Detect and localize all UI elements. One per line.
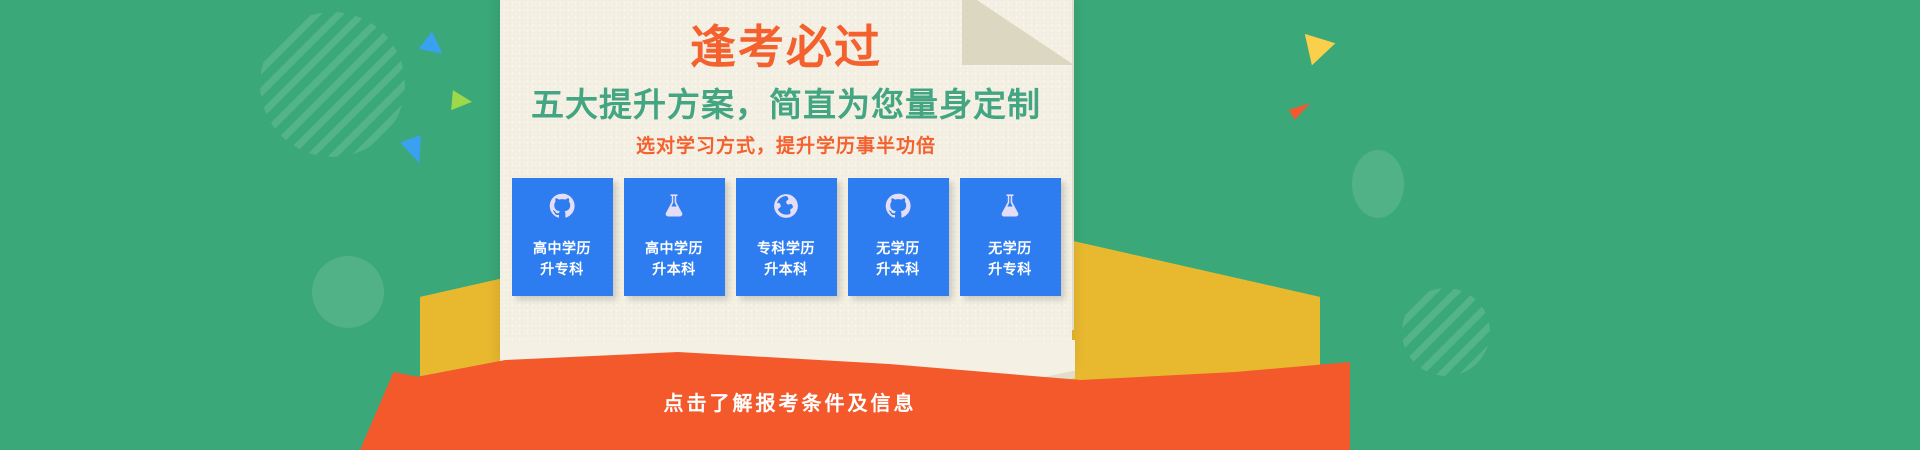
program-card-line2: 升本科 [652,261,696,277]
program-card-label: 无学历 升本科 [876,238,920,281]
program-card-4[interactable]: 无学历 升本科 [848,178,949,296]
program-card-line1: 专科学历 [757,240,815,256]
flask-icon [660,192,688,220]
globe-icon [772,192,800,220]
program-card-line1: 高中学历 [533,240,591,256]
github-cat-icon [884,192,912,220]
dot-circle-icon [312,256,384,328]
program-card-label: 高中学历 升专科 [533,238,591,281]
confetti-triangle-icon [451,90,473,112]
program-card-2[interactable]: 高中学历 升本科 [624,178,725,296]
flask-icon [996,192,1024,220]
confetti-triangle-icon [400,135,430,167]
program-card-line1: 无学历 [876,240,920,256]
program-card-line1: 无学历 [988,240,1032,256]
confetti-triangle-icon [1297,34,1336,70]
program-card-1[interactable]: 高中学历 升专科 [512,178,613,296]
program-card-label: 高中学历 升本科 [645,238,703,281]
banner-content: 逢考必过 五大提升方案，简直为您量身定制 选对学习方式，提升学历事半功倍 高中学… [500,0,1072,296]
striped-circle-icon [260,12,405,157]
program-card-list: 高中学历 升专科 高中学历 升本科 [500,178,1072,296]
banner-subtitle: 五大提升方案，简直为您量身定制 [500,87,1072,123]
page-title: 逢考必过 [500,22,1072,73]
program-card-line2: 升专科 [540,261,584,277]
banner-tagline: 选对学习方式，提升学历事半功倍 [500,137,1072,158]
confetti-triangle-icon [1288,98,1313,120]
confetti-triangle-icon [419,32,450,63]
program-card-label: 无学历 升专科 [988,238,1032,281]
dot-circle-icon [1352,150,1404,218]
program-card-line2: 升本科 [764,261,808,277]
program-card-line2: 升专科 [988,261,1032,277]
program-card-line1: 高中学历 [645,240,703,256]
program-card-line2: 升本科 [876,261,920,277]
github-cat-icon [548,192,576,220]
striped-circle-icon [1402,288,1490,376]
cta-link[interactable]: 点击了解报考条件及信息 [500,394,1080,414]
program-card-3[interactable]: 专科学历 升本科 [736,178,837,296]
program-card-5[interactable]: 无学历 升专科 [960,178,1061,296]
promo-banner: 逢考必过 五大提升方案，简直为您量身定制 选对学习方式，提升学历事半功倍 高中学… [0,0,1920,450]
program-card-label: 专科学历 升本科 [757,238,815,281]
